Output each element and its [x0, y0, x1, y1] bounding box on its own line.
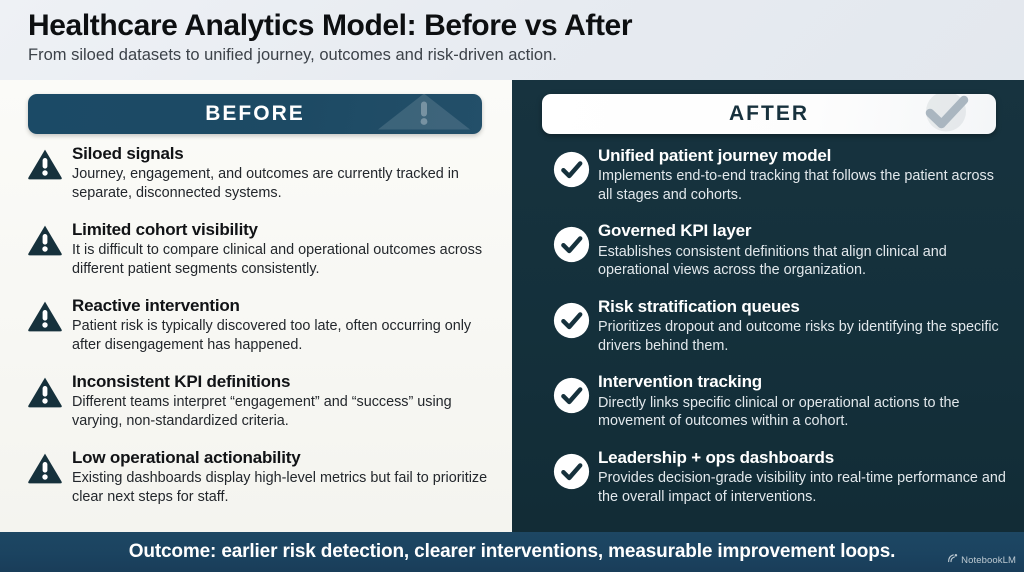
- list-item-body: Unified patient journey model Implements…: [594, 146, 1010, 204]
- comparison-panels: BEFORE Siloed signals Journey, engagemen…: [0, 80, 1024, 532]
- list-item: Risk stratification queues Prioritizes d…: [548, 297, 1010, 355]
- list-item-title: Intervention tracking: [598, 372, 1010, 392]
- warning-triangle-icon: [22, 296, 68, 333]
- list-item-title: Inconsistent KPI definitions: [72, 372, 498, 392]
- list-item-title: Unified patient journey model: [598, 146, 1010, 166]
- list-item-body: Limited cohort visibility It is difficul…: [68, 220, 498, 278]
- list-item-body: Reactive intervention Patient risk is ty…: [68, 296, 498, 354]
- list-item-desc: Journey, engagement, and outcomes are cu…: [72, 165, 498, 202]
- warning-triangle-icon: [22, 144, 68, 181]
- list-item-body: Siloed signals Journey, engagement, and …: [68, 144, 498, 202]
- check-circle-icon: [548, 448, 594, 490]
- before-header-bar: BEFORE: [28, 94, 482, 134]
- notebooklm-watermark: NotebookLM: [947, 551, 1016, 569]
- list-item-title: Limited cohort visibility: [72, 220, 498, 240]
- check-circle-icon: [548, 146, 594, 188]
- list-item-desc: Provides decision-grade visibility into …: [598, 469, 1010, 506]
- warning-triangle-icon: [22, 448, 68, 485]
- after-item-list: Unified patient journey model Implements…: [548, 142, 1010, 532]
- list-item-body: Governed KPI layer Establishes consisten…: [594, 221, 1010, 279]
- list-item: Unified patient journey model Implements…: [548, 146, 1010, 204]
- before-header-label: BEFORE: [205, 102, 305, 126]
- list-item: Governed KPI layer Establishes consisten…: [548, 221, 1010, 279]
- warning-triangle-icon: [22, 372, 68, 409]
- list-item-title: Risk stratification queues: [598, 297, 1010, 317]
- list-item-desc: Establishes consistent definitions that …: [598, 243, 1010, 280]
- list-item-body: Leadership + ops dashboards Provides dec…: [594, 448, 1010, 506]
- notebooklm-logo-icon: [947, 551, 958, 569]
- list-item: Siloed signals Journey, engagement, and …: [22, 144, 498, 202]
- check-mark-icon: [900, 94, 992, 134]
- outcome-banner: Outcome: earlier risk detection, clearer…: [0, 532, 1024, 572]
- notebooklm-watermark-text: NotebookLM: [961, 555, 1016, 566]
- after-panel: AFTER Unified patient journey model Impl…: [512, 80, 1024, 532]
- slide-root: Healthcare Analytics Model: Before vs Af…: [0, 0, 1024, 572]
- list-item: Intervention tracking Directly links spe…: [548, 372, 1010, 430]
- list-item: Leadership + ops dashboards Provides dec…: [548, 448, 1010, 506]
- after-header-bar: AFTER: [542, 94, 996, 134]
- page-subtitle: From siloed datasets to unified journey,…: [28, 46, 1024, 66]
- list-item-desc: Directly links specific clinical or oper…: [598, 394, 1010, 431]
- slide-header: Healthcare Analytics Model: Before vs Af…: [0, 0, 1024, 80]
- check-circle-icon: [548, 221, 594, 263]
- check-circle-icon: [548, 297, 594, 339]
- outcome-banner-text: Outcome: earlier risk detection, clearer…: [129, 541, 896, 563]
- after-header-label: AFTER: [729, 102, 809, 126]
- list-item-desc: Implements end-to-end tracking that foll…: [598, 167, 1010, 204]
- list-item-desc: It is difficult to compare clinical and …: [72, 241, 498, 278]
- list-item-body: Risk stratification queues Prioritizes d…: [594, 297, 1010, 355]
- check-circle-icon: [548, 372, 594, 414]
- list-item-desc: Patient risk is typically discovered too…: [72, 317, 498, 354]
- list-item-title: Low operational actionability: [72, 448, 498, 468]
- list-item: Reactive intervention Patient risk is ty…: [22, 296, 498, 354]
- list-item-body: Intervention tracking Directly links spe…: [594, 372, 1010, 430]
- list-item: Limited cohort visibility It is difficul…: [22, 220, 498, 278]
- list-item-title: Governed KPI layer: [598, 221, 1010, 241]
- list-item: Inconsistent KPI definitions Different t…: [22, 372, 498, 430]
- warning-triangle-icon: [370, 94, 478, 134]
- before-panel: BEFORE Siloed signals Journey, engagemen…: [0, 80, 512, 532]
- list-item-desc: Different teams interpret “engagement” a…: [72, 393, 498, 430]
- list-item-desc: Existing dashboards display high-level m…: [72, 469, 498, 506]
- page-title: Healthcare Analytics Model: Before vs Af…: [28, 9, 1024, 43]
- list-item-desc: Prioritizes dropout and outcome risks by…: [598, 318, 1010, 355]
- list-item: Low operational actionability Existing d…: [22, 448, 498, 506]
- warning-triangle-icon: [22, 220, 68, 257]
- list-item-body: Low operational actionability Existing d…: [68, 448, 498, 506]
- list-item-title: Leadership + ops dashboards: [598, 448, 1010, 468]
- list-item-title: Siloed signals: [72, 144, 498, 164]
- before-item-list: Siloed signals Journey, engagement, and …: [22, 142, 498, 532]
- list-item-title: Reactive intervention: [72, 296, 498, 316]
- list-item-body: Inconsistent KPI definitions Different t…: [68, 372, 498, 430]
